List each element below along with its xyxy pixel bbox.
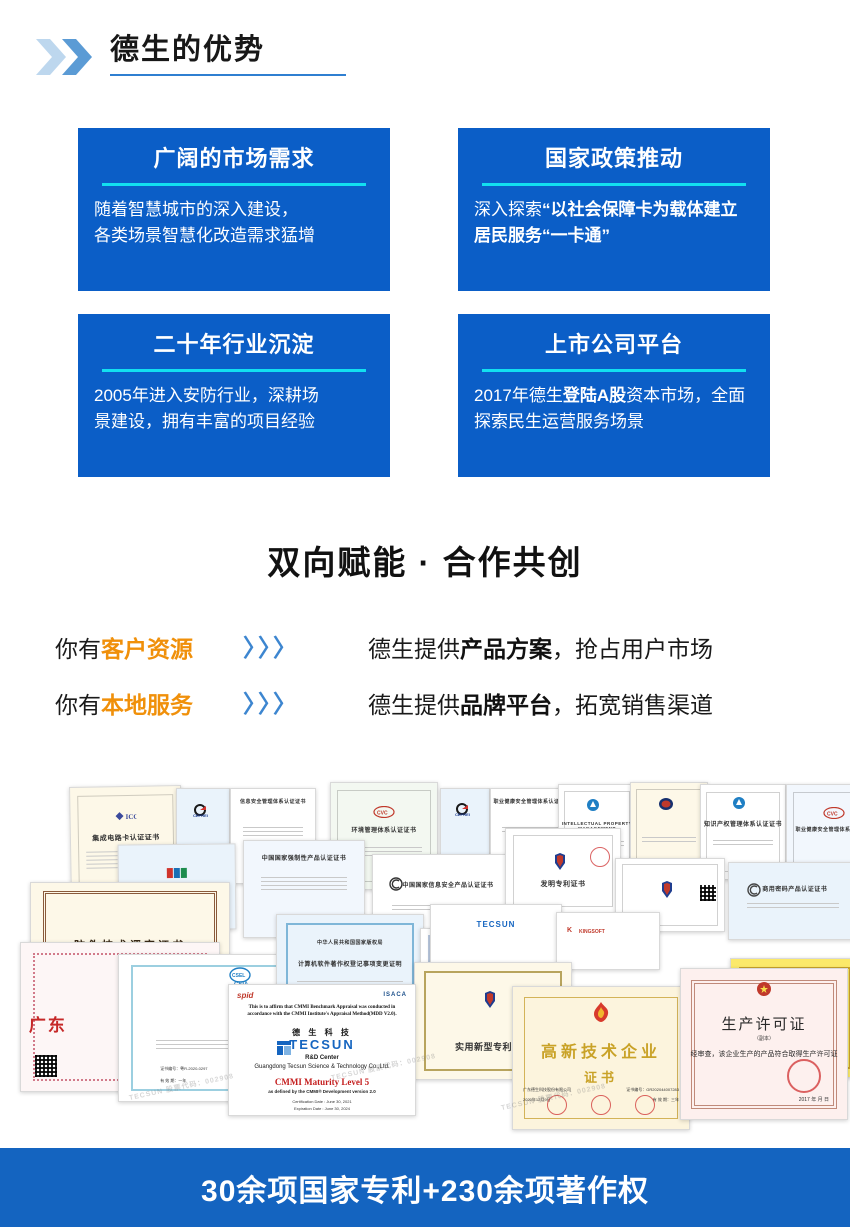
svg-text:CVC: CVC: [377, 811, 388, 817]
empower-right-text: 德生提供品牌平台，拓宽销售渠道: [368, 684, 713, 726]
svg-text:CSEL: CSEL: [232, 973, 245, 979]
cvc-logo-icon: CVC: [823, 807, 845, 817]
certificate-issuer: 中华人民共和国国家版权局: [277, 939, 423, 946]
card-divider: [102, 183, 366, 186]
page-title: 德生的优势: [110, 30, 265, 70]
empower-row-local-service: 你有本地服务 〉〉〉 德生提供品牌平台，拓宽销售渠道: [0, 684, 850, 740]
tecsun-logo-icon: TECSUN: [477, 920, 516, 929]
csel-csia-logo-icon: CSELCSIA: [227, 967, 249, 977]
card-divider: [102, 369, 366, 372]
cmmi-line-2: accordance with the CMMI Institute's App…: [237, 1011, 407, 1018]
page-root: 德生的优势 广阔的市场需求 随着智慧城市的深入建设， 各类场景智慧化改造需求猛增…: [0, 0, 850, 1227]
svg-text:CVC: CVC: [827, 811, 838, 817]
empower-right-prefix: 德生提供: [368, 692, 460, 718]
tecsun-mark-icon: [277, 1041, 291, 1055]
certificate-image-cmmi: spid ISACA This is to affirm that CMMI B…: [228, 984, 416, 1116]
cvc-logo-icon: CVC: [373, 806, 395, 816]
unionpay-logo-icon: [166, 867, 188, 877]
empower-left-highlight: 本地服务: [101, 692, 193, 718]
card-body: 随着智慧城市的深入建设， 各类场景智慧化改造需求猛增: [94, 197, 374, 249]
tecsun-logo-icon: TECSUN: [229, 1037, 415, 1052]
certificate-name: 商用密码产品认证证书: [762, 884, 850, 893]
certificate-image-license: 生产许可证 （副本） 经审查，该企业生产的产品符合取得生产许可证 2017 年 …: [680, 968, 848, 1120]
certificate-statement: 经审查，该企业生产的产品符合取得生产许可证: [681, 1049, 847, 1059]
empower-left-prefix: 你有: [55, 636, 101, 662]
ipms-logo-icon: [586, 798, 608, 808]
card-title: 二十年行业沉淀: [94, 330, 374, 360]
cmmi-cert-date: Certification Date : June 30, 2021: [229, 1099, 415, 1104]
svg-text:CEPREI: CEPREI: [455, 812, 470, 817]
cmmi-line-1: This is to affirm that CMMI Benchmark Ap…: [237, 1004, 407, 1011]
certificate-name: 环境管理体系认证证书: [331, 825, 437, 834]
empower-right-suffix: ，拓宽销售渠道: [552, 692, 713, 718]
certificate-image-highnew: 高新技术企业 证书 广东德生科技股份有限公司 证书编号：GR2020440072…: [512, 986, 690, 1130]
advantage-card-national-policy[interactable]: 国家政策推动 深入探索“以社会保障卡为载体建立居民服务“一卡通”: [458, 128, 770, 291]
card-body-bold: 登陆A股: [563, 386, 626, 405]
card-body: 深入探索“以社会保障卡为载体建立居民服务“一卡通”: [474, 197, 754, 249]
card-divider: [482, 183, 746, 186]
red-seal-icon: [591, 1095, 611, 1115]
section-header: 德生的优势: [0, 30, 850, 92]
iccr-logo-icon: ICCR: [114, 811, 136, 821]
title-underline: [110, 74, 346, 76]
patent-emblem-icon: [659, 881, 681, 891]
card-body: 2005年进入安防行业，深耕场 景建设，拥有丰富的项目经验: [94, 383, 374, 435]
national-emblem-icon: [756, 981, 772, 997]
certificate-validity: 有 效 期：三年: [653, 1097, 679, 1103]
svg-text:CEPREI: CEPREI: [193, 813, 208, 818]
certificate-number: 证书编号：粤R-2020-0297: [160, 1066, 207, 1072]
certificate-number: 证书编号：GR202044007283: [626, 1087, 679, 1093]
empower-right-prefix: 德生提供: [368, 636, 460, 662]
card-body-line-2: 景建设，拥有丰富的项目经验: [94, 412, 315, 431]
card-body-prefix: 2017年德生: [474, 386, 563, 405]
cmmi-defined: as defined by the CMMI® Development vers…: [229, 1089, 415, 1094]
certificate-validity: 有 效 期：一年: [160, 1078, 186, 1084]
cmmi-level: CMMI Maturity Level 5: [229, 1077, 415, 1087]
cmmi-rnd-center: R&D Center: [229, 1055, 415, 1061]
empower-heading: 双向赋能 · 合作共创: [0, 540, 850, 586]
certificate-name: 发明专利证书: [506, 879, 620, 889]
advantage-card-listed-company[interactable]: 上市公司平台 2017年德生登陆A股资本市场，全面探索民生运营服务场景: [458, 314, 770, 477]
ceprei-logo-icon: CEPREI: [192, 804, 214, 814]
triple-chevron-right-icon: 〉〉〉: [243, 684, 300, 726]
card-title: 国家政策推动: [474, 144, 754, 174]
certificate-collage: ICCR 集成电路卡认证证书 CEPREI 信息安全管理体系认证证书 CVC 环…: [0, 762, 850, 1150]
patent-emblem-icon: [552, 853, 574, 863]
qr-code-icon: [35, 1055, 57, 1077]
empower-row-list: 你有客户资源 〉〉〉 德生提供产品方案，抢占用户市场 你有本地服务 〉〉〉 德生…: [0, 628, 850, 740]
certificate-name: 中国国家强制性产品认证证书: [244, 853, 364, 862]
empower-left-text: 你有客户资源: [55, 628, 193, 670]
empower-right-suffix: ，抢占用户市场: [552, 636, 713, 662]
footer-text: 30余项国家专利+230余项著作权: [0, 1148, 850, 1227]
cmmi-company: Guangdong Tecsun Science & Technology Co…: [229, 1064, 415, 1070]
card-title: 上市公司平台: [474, 330, 754, 360]
card-title: 广阔的市场需求: [94, 144, 374, 174]
double-chevron-right-icon: [36, 39, 98, 75]
patent-emblem-icon: [482, 991, 504, 1001]
certificate-name: 集成电路卡认证证书: [71, 832, 181, 844]
card-body-line-1: 随着智慧城市的深入建设，: [94, 200, 298, 219]
ceprei-logo-icon: CEPREI: [454, 803, 476, 813]
certificate-company: 广东德生科技股份有限公司: [523, 1087, 571, 1093]
certificate-name: 计算机软件著作权登记事项变更证明: [277, 959, 423, 968]
kingsoft-logo-icon: K: [567, 927, 572, 934]
certificate-issuer: KINGSOFT: [579, 929, 605, 935]
ipms-logo-icon: [732, 796, 754, 806]
certificate-image: 发明专利证书: [505, 828, 621, 914]
svg-text:ICCR: ICCR: [125, 813, 136, 821]
red-seal-icon: [635, 1095, 655, 1115]
certificate-subtitle: （副本）: [681, 1035, 847, 1042]
empower-right-bold: 产品方案: [460, 636, 552, 662]
card-body-prefix: 深入探索: [474, 200, 542, 219]
certificate-name: 高新技术企业: [513, 1038, 689, 1062]
empower-row-customer-resource: 你有客户资源 〉〉〉 德生提供产品方案，抢占用户市场: [0, 628, 850, 684]
red-seal-icon: [590, 847, 610, 867]
triple-chevron-right-icon: 〉〉〉: [243, 628, 300, 670]
quality-seal-icon: [658, 797, 680, 807]
isaca-logo-icon: ISACA: [383, 992, 407, 998]
empower-right-text: 德生提供产品方案，抢占用户市场: [368, 628, 713, 670]
card-divider: [482, 369, 746, 372]
card-body: 2017年德生登陆A股资本市场，全面探索民生运营服务场景: [474, 383, 754, 435]
advantage-card-market-demand[interactable]: 广阔的市场需求 随着智慧城市的深入建设， 各类场景智慧化改造需求猛增: [78, 128, 390, 291]
certificate-date: 2017 年 月 日: [799, 1096, 829, 1103]
spid-logo-icon: spid: [237, 991, 253, 1000]
card-body-line-1: 2005年进入安防行业，深耕场: [94, 386, 319, 405]
advantage-card-industry-experience[interactable]: 二十年行业沉淀 2005年进入安防行业，深耕场 景建设，拥有丰富的项目经验: [78, 314, 390, 477]
flame-emblem-icon: [590, 1001, 612, 1024]
certificate-name: 知识产权管理体系认证证书: [701, 819, 785, 828]
chevron-right-icon-2: [62, 39, 92, 75]
empower-left-text: 你有本地服务: [55, 684, 193, 726]
certificate-name: 职业健康安全管理体系认证证书: [787, 826, 850, 833]
red-seal-icon: [787, 1059, 821, 1093]
certificate-image: TECSUN: [430, 904, 562, 964]
card-body-line-2: 各类场景智慧化改造需求猛增: [94, 226, 315, 245]
certificate-name-2: 证书: [513, 1067, 689, 1086]
qr-code-icon: [700, 885, 716, 901]
cmmi-exp-date: Expiration Date : June 30, 2024: [229, 1106, 415, 1111]
advantage-card-grid: 广阔的市场需求 随着智慧城市的深入建设， 各类场景智慧化改造需求猛增 国家政策推…: [0, 128, 850, 480]
certificate-name: 中国国家信息安全产品认证证书: [402, 880, 507, 889]
red-seal-icon: [547, 1095, 567, 1115]
certificate-image: 商用密码产品认证证书: [728, 862, 850, 940]
empower-right-bold: 品牌平台: [460, 692, 552, 718]
footer-banner: 30余项国家专利+230余项著作权: [0, 1148, 850, 1227]
certificate-name: 生产许可证: [681, 1013, 847, 1034]
empower-left-prefix: 你有: [55, 692, 101, 718]
empower-left-highlight: 客户资源: [101, 636, 193, 662]
certificate-name: 信息安全管理体系认证证书: [231, 798, 315, 805]
